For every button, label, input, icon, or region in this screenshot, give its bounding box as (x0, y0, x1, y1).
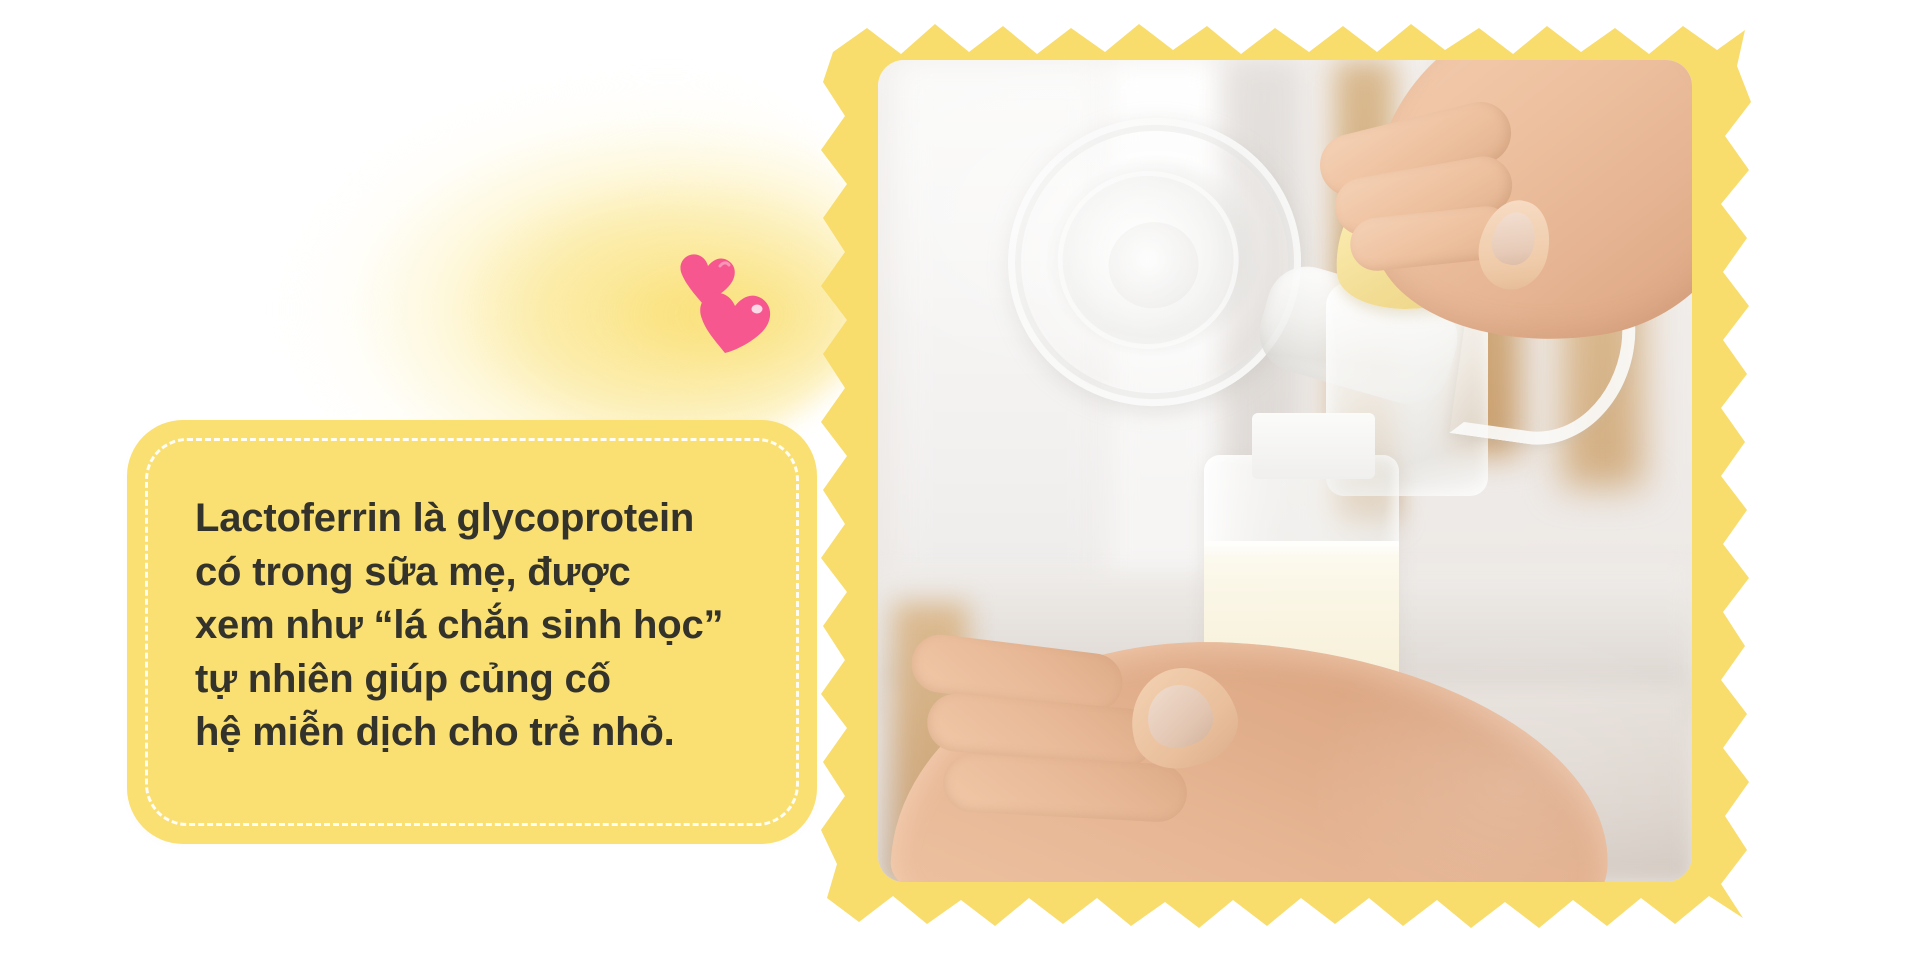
info-line-4: tự nhiên giúp củng cố (195, 653, 795, 707)
lactoferrin-info-card: Lactoferrin là glycoprotein có trong sữa… (127, 420, 817, 844)
info-line-2: có trong sữa mẹ, được (195, 546, 795, 600)
info-line-5: hệ miễn dịch cho trẻ nhỏ. (195, 706, 795, 760)
info-card-text: Lactoferrin là glycoprotein có trong sữa… (195, 492, 795, 760)
pink-hearts-icon (668, 243, 776, 353)
photo-scene (878, 60, 1692, 882)
photo-frame (815, 18, 1755, 948)
info-line-1: Lactoferrin là glycoprotein (195, 492, 795, 546)
info-line-3: xem như “lá chắn sinh học” (195, 599, 795, 653)
poster-canvas: Lactoferrin là glycoprotein có trong sữa… (0, 0, 1920, 972)
milk-surface (1204, 541, 1399, 558)
milk-bottle-neck (1252, 413, 1374, 479)
yellow-gradient-blob-inner (300, 150, 860, 450)
breast-pump-photo (878, 60, 1692, 882)
